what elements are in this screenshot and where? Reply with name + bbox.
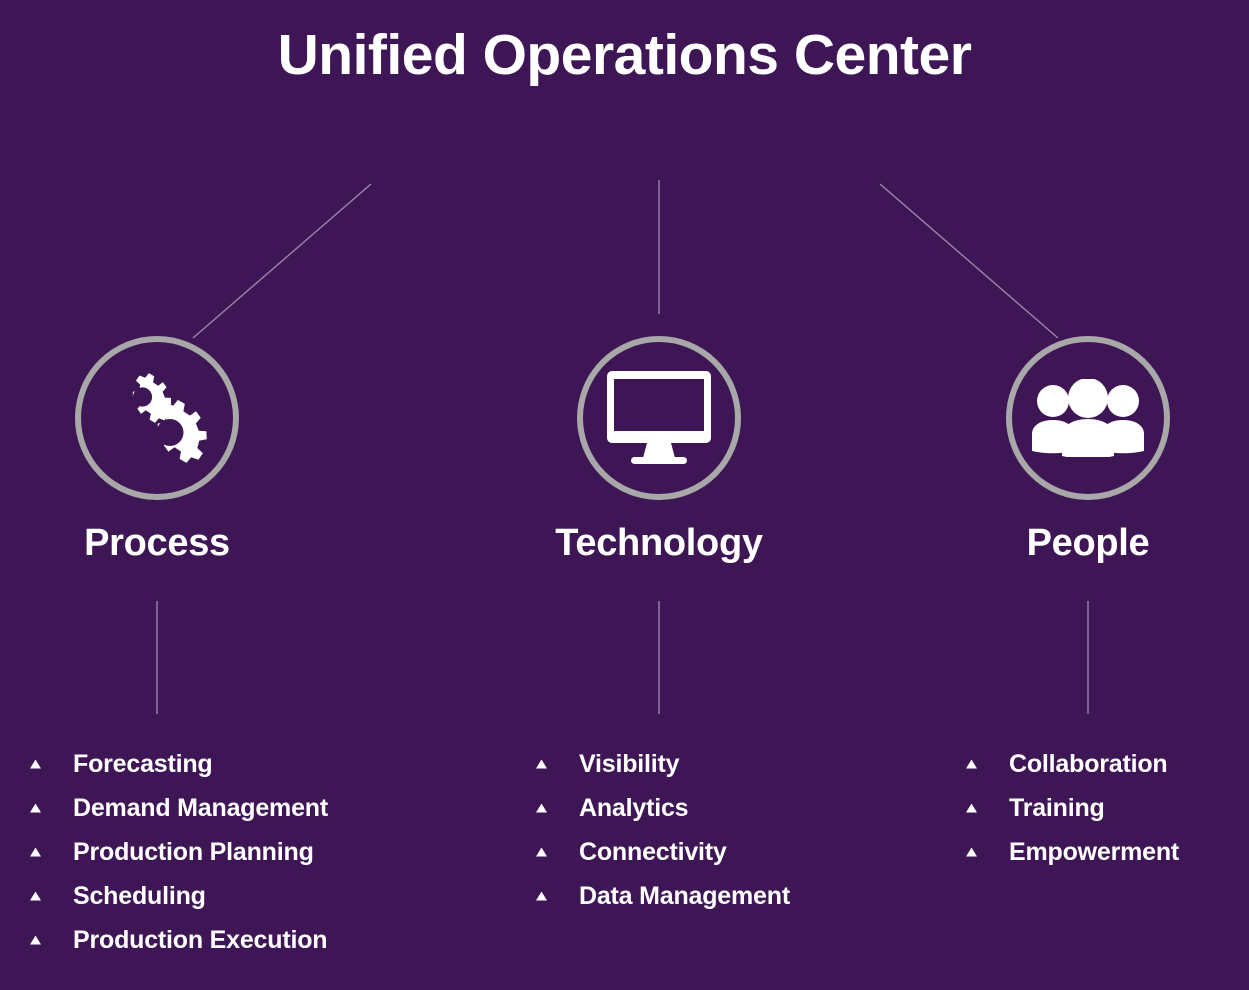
triangle-bullet-icon [536, 892, 547, 901]
pillar-technology-circle [577, 336, 741, 500]
triangle-bullet-icon [536, 848, 547, 857]
people-group-icon [1031, 379, 1145, 457]
list-item[interactable]: Connectivity [536, 830, 790, 874]
pillar-technology-label: Technology [489, 522, 829, 566]
bullet-list-process: Forecasting Demand Management Production… [30, 742, 328, 962]
gears-icon [103, 367, 211, 469]
triangle-bullet-icon [30, 760, 41, 769]
list-item[interactable]: Empowerment [966, 830, 1179, 874]
list-item-label: Demand Management [73, 794, 328, 823]
list-item[interactable]: Training [966, 786, 1179, 830]
triangle-bullet-icon [30, 848, 41, 857]
list-item-label: Analytics [579, 794, 688, 823]
list-item-label: Connectivity [579, 838, 727, 867]
triangle-bullet-icon [536, 804, 547, 813]
connector-title-to-process [193, 184, 371, 338]
list-item[interactable]: Collaboration [966, 742, 1179, 786]
pillar-process-circle [75, 336, 239, 500]
triangle-bullet-icon [536, 760, 547, 769]
list-item-label: Collaboration [1009, 750, 1168, 779]
list-item[interactable]: Scheduling [30, 874, 328, 918]
list-item-label: Visibility [579, 750, 679, 779]
connector-title-to-people [880, 184, 1058, 338]
pillar-technology[interactable]: Technology [489, 330, 829, 566]
triangle-bullet-icon [966, 804, 977, 813]
list-item[interactable]: Demand Management [30, 786, 328, 830]
list-item-label: Production Planning [73, 838, 314, 867]
page-title: Unified Operations Center [0, 24, 1249, 87]
triangle-bullet-icon [966, 848, 977, 857]
triangle-bullet-icon [30, 804, 41, 813]
bullet-list-technology: Visibility Analytics Connectivity Data M… [536, 742, 790, 918]
diagram-canvas: Unified Operations Center Process [0, 0, 1249, 990]
list-item[interactable]: Analytics [536, 786, 790, 830]
pillar-people-circle [1006, 336, 1170, 500]
list-item[interactable]: Production Planning [30, 830, 328, 874]
pillar-process[interactable]: Process [0, 330, 327, 566]
bullet-list-people: Collaboration Training Empowerment [966, 742, 1179, 874]
list-item[interactable]: Forecasting [30, 742, 328, 786]
list-item-label: Forecasting [73, 750, 213, 779]
list-item[interactable]: Visibility [536, 742, 790, 786]
triangle-bullet-icon [30, 892, 41, 901]
list-item-label: Production Execution [73, 926, 327, 955]
list-item[interactable]: Production Execution [30, 918, 328, 962]
pillar-process-label: Process [0, 522, 327, 566]
list-item-label: Data Management [579, 882, 790, 911]
pillar-people[interactable]: People [918, 330, 1249, 566]
list-item-label: Scheduling [73, 882, 206, 911]
list-item[interactable]: Data Management [536, 874, 790, 918]
triangle-bullet-icon [30, 936, 41, 945]
monitor-icon [606, 370, 712, 466]
triangle-bullet-icon [966, 760, 977, 769]
list-item-label: Empowerment [1009, 838, 1179, 867]
pillar-people-label: People [918, 522, 1249, 566]
list-item-label: Training [1009, 794, 1105, 823]
